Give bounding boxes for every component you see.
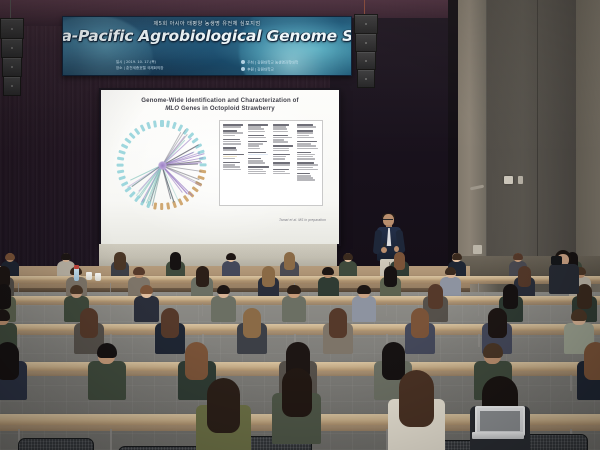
projection-screen: Genome-Wide Identification and Character…: [99, 88, 341, 246]
table-group: [273, 162, 295, 166]
circos-segment: [119, 175, 127, 180]
audience-member: [323, 308, 353, 354]
audience-hair: [329, 308, 347, 338]
laptop[interactable]: [472, 406, 524, 440]
table-group: [248, 124, 270, 132]
table-row: [223, 158, 235, 160]
circos-segment: [153, 202, 157, 209]
slide-title-line2-rest: Genes in Octoploid Strawberry: [179, 105, 275, 112]
audience-member: [88, 342, 126, 400]
audience-member: [352, 284, 377, 322]
slide-caption-text: Tamat et al. MS in preparation: [279, 218, 326, 222]
table-group: [297, 173, 319, 181]
table-leg: [386, 304, 387, 315]
audience-hair: [287, 285, 300, 295]
circos-segment: [119, 150, 127, 155]
table-group: [248, 152, 270, 156]
table-group: [273, 135, 295, 143]
operator-body: [549, 264, 579, 294]
banner-korean-subtitle: 제5회 아시아 태평양 농생명 유전체 심포지엄: [153, 20, 260, 27]
circos-segment: [134, 128, 141, 136]
audience-hair: [483, 343, 503, 358]
table-row: [223, 166, 240, 168]
table-row: [248, 171, 266, 173]
table-row: [297, 137, 314, 139]
audience-member: [272, 368, 321, 444]
table-group: [223, 139, 245, 145]
paper-cup: [86, 272, 92, 280]
audience-hair: [5, 253, 15, 260]
table-row: [273, 150, 290, 152]
audience-hair: [262, 266, 275, 287]
circos-segment: [192, 186, 200, 193]
audience-hair: [133, 267, 144, 275]
table-row: [297, 158, 315, 160]
audience-hair: [488, 308, 506, 338]
audience-hair: [384, 266, 397, 287]
table-group: [273, 145, 295, 151]
line-array-speaker: [0, 18, 22, 100]
audience-hair: [571, 309, 587, 321]
table-row: [273, 128, 288, 130]
circos-segment: [200, 163, 207, 166]
table-row: [248, 169, 264, 171]
audience-member: [577, 342, 600, 400]
audience-member: [282, 284, 307, 322]
audience-hair: [452, 253, 462, 260]
table-group: [297, 124, 319, 128]
audience-hair: [114, 252, 125, 270]
table-row: [273, 141, 289, 143]
circos-segment: [129, 132, 136, 139]
table-row: [248, 131, 265, 133]
bottle-cap: [74, 265, 79, 269]
event-banner: 제5회 아시아 태평양 농생명 유전체 심포지엄 The 5th Asia-Pa…: [62, 16, 352, 76]
table-group: [273, 154, 295, 160]
audience-hair: [161, 308, 179, 338]
wall-recess: [448, 0, 458, 280]
circos-segment: [166, 202, 170, 209]
audience-hair: [226, 253, 236, 260]
table-row: [223, 135, 235, 137]
circos-chord-diagram: [117, 120, 207, 210]
audience-hair: [97, 343, 117, 358]
audience-hair: [80, 308, 98, 338]
audience-torso: [88, 361, 126, 400]
audience-hair: [0, 284, 11, 309]
banner-host: 주최 | 강원대학교 농생명과학대학: [241, 60, 298, 66]
table-group: [297, 162, 319, 170]
gene-table: [219, 120, 323, 206]
table-group: [223, 154, 245, 160]
table-leg: [110, 304, 111, 315]
circos-segment: [147, 122, 152, 130]
table-row: [273, 135, 289, 137]
line-array-speaker: [354, 14, 376, 90]
table-row: [297, 126, 316, 128]
table-row: [297, 145, 316, 147]
table-row: [273, 164, 290, 166]
circos-hub: [158, 161, 167, 170]
table-row: [297, 164, 317, 166]
table-column: [222, 124, 246, 202]
audience-area: [0, 250, 600, 450]
audience-hair: [196, 266, 209, 287]
table-group: [223, 124, 245, 128]
table-row: [273, 131, 288, 133]
table-row: [223, 143, 241, 145]
audience-hair: [0, 342, 19, 380]
table-row: [248, 162, 265, 164]
table-row: [248, 148, 261, 150]
table-row: [297, 132, 313, 134]
table-group: [248, 141, 270, 149]
table-row: [297, 135, 309, 137]
panel-seam: [537, 0, 538, 282]
table-group: [223, 147, 245, 151]
circos-segment: [178, 198, 184, 206]
table-row: [223, 156, 237, 158]
table-row: [248, 152, 266, 154]
audience-hair: [503, 284, 518, 309]
banner-title-main: Asia-Pacific Agrobiological Genome Sympo…: [62, 27, 352, 45]
table-leg: [18, 304, 19, 315]
glasses-icon: [383, 219, 393, 222]
table-row: [248, 154, 268, 156]
table-leg: [110, 429, 112, 449]
table-column: [272, 124, 296, 202]
slide-title: Genome-Wide Identification and Character…: [101, 97, 339, 113]
circos-segment: [160, 203, 163, 210]
audience-torso: [352, 296, 377, 322]
table-row: [297, 179, 315, 181]
audience-hair: [357, 285, 370, 295]
table-row: [297, 169, 318, 171]
conference-photo: 제5회 아시아 태평양 농생명 유전체 심포지엄 The 5th Asia-Pa…: [0, 0, 600, 450]
banner-title: The 5th Asia-Pacific Agrobiological Geno…: [62, 29, 352, 45]
audience-hair: [140, 285, 153, 295]
table-leg: [478, 304, 479, 315]
audience-member: [258, 266, 279, 299]
slide-title-line1: Genome-Wide Identification and Character…: [101, 97, 339, 105]
circos-segment: [140, 124, 146, 132]
table-row: [248, 137, 266, 139]
table-group: [248, 158, 270, 164]
table-row: [297, 167, 312, 169]
table-group: [248, 135, 270, 139]
table-group: [248, 166, 270, 174]
table-group: [297, 130, 319, 138]
circos-segment: [160, 120, 163, 127]
camera-icon: [551, 256, 562, 265]
audience-member: [191, 266, 212, 299]
slide-title-line2: MLO Genes in Octoploid Strawberry: [101, 105, 339, 113]
laptop-keyboard[interactable]: [472, 432, 524, 439]
table-row: [248, 145, 259, 147]
audience-hair: [445, 267, 456, 275]
audience-member: [380, 266, 401, 299]
banner-venue: 장소 | 춘천세종호텔 국제회의장: [116, 66, 164, 71]
sponsor-logo-icon: [241, 67, 245, 71]
slide-caption: Tamat et al. MS in preparation: [279, 218, 326, 222]
table-leg: [18, 283, 19, 293]
audience-hair: [343, 253, 353, 260]
table-row: [223, 149, 237, 151]
audience-member: [0, 342, 27, 400]
table-group: [273, 169, 295, 175]
circos-segment: [125, 137, 133, 144]
paper-cup: [95, 273, 101, 281]
table-row: [223, 154, 244, 156]
audience-member: [196, 378, 251, 450]
audience-hair: [282, 368, 312, 417]
light-switch-plate[interactable]: [504, 176, 513, 184]
table-group: [297, 152, 319, 160]
table-row: [248, 173, 266, 175]
banner-date: 일시 | 2019. 10. 17.(목): [116, 60, 164, 65]
table-group: [297, 141, 319, 149]
audience-hair: [61, 253, 71, 260]
audience-hair: [428, 284, 443, 309]
audience-torso: [282, 296, 307, 322]
table-row: [273, 148, 289, 150]
audience-hair: [584, 342, 600, 380]
circos-segment: [172, 122, 177, 130]
audience-hair: [217, 285, 230, 295]
table-column: [247, 124, 271, 202]
audience-hair: [399, 370, 434, 427]
circos-segment: [183, 195, 190, 203]
slide-surface: Genome-Wide Identification and Character…: [101, 90, 339, 244]
table-row: [297, 152, 311, 154]
circos-segment: [121, 143, 129, 149]
table-row: [297, 148, 318, 150]
audience-member: [388, 370, 445, 450]
table-row: [273, 171, 285, 173]
table-row: [273, 169, 290, 171]
table-row: [248, 135, 264, 137]
banner-sponsor: 후원 | 강원대학교: [241, 67, 298, 73]
table-group: [223, 130, 245, 136]
table-row: [273, 173, 290, 175]
water-bottle: [74, 268, 79, 281]
host-logo-icon: [241, 60, 245, 64]
audience-member: [237, 308, 267, 354]
audience-hair: [322, 267, 333, 275]
camera-operator: [548, 250, 582, 294]
audience-torso: [211, 296, 236, 322]
audience-member: [211, 284, 236, 322]
table-group: [273, 124, 295, 132]
table-row: [223, 132, 243, 134]
audience-hair: [170, 252, 181, 270]
circos-segment: [117, 156, 124, 160]
audience-hair: [284, 252, 295, 270]
audience-hair: [207, 378, 241, 433]
circos-segment: [153, 120, 157, 127]
table-row: [223, 169, 241, 171]
table-leg: [110, 283, 111, 293]
acoustic-panel: [486, 0, 578, 282]
table-row: [273, 145, 294, 147]
circos-segment: [166, 120, 170, 127]
light-switch-plate[interactable]: [518, 176, 523, 184]
gene-name-italic: MLO: [165, 105, 179, 112]
circos-segment: [117, 163, 124, 166]
banner-footer-right: 주최 | 강원대학교 농생명과학대학 후원 | 강원대학교: [241, 60, 298, 72]
banner-footer: 일시 | 2019. 10. 17.(목) 장소 | 춘천세종호텔 국제회의장 …: [63, 60, 351, 72]
table-group: [223, 162, 245, 170]
table-row: [273, 158, 285, 160]
audience-hair: [185, 342, 208, 380]
table-row: [248, 166, 269, 168]
audience-member: [318, 266, 339, 299]
audience-hair: [513, 253, 523, 260]
audience-hair: [243, 308, 261, 338]
circos-segment: [117, 169, 124, 173]
table-row: [223, 126, 241, 128]
table-column: [296, 124, 320, 202]
table-leg: [570, 375, 572, 391]
audience-hair: [0, 309, 10, 321]
audience-hair: [411, 308, 429, 338]
audience-chair: [18, 438, 94, 450]
table-row: [248, 128, 264, 130]
audience-hair: [70, 285, 83, 295]
banner-footer-left: 일시 | 2019. 10. 17.(목) 장소 | 춘천세종호텔 국제회의장: [116, 60, 164, 71]
table-leg: [202, 304, 203, 315]
table-leg: [478, 283, 479, 293]
